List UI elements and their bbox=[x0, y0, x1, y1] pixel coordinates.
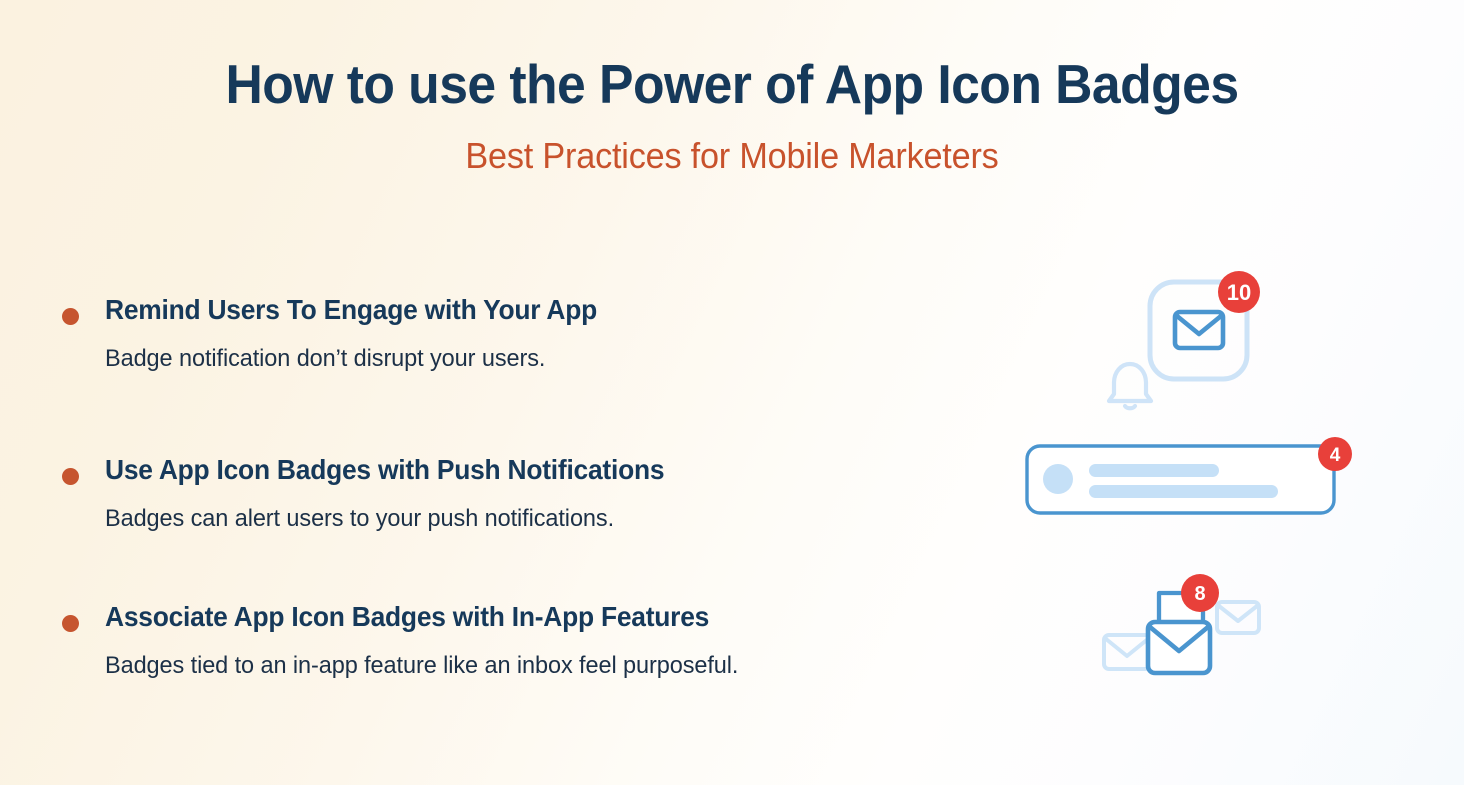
illustration-inbox-envelopes: 8 bbox=[1090, 571, 1290, 706]
page-title: How to use the Power of App Icon Badges bbox=[44, 55, 1420, 114]
badge-counter: 8 bbox=[1181, 574, 1219, 612]
bullet-dot-icon bbox=[62, 308, 79, 325]
notification-card bbox=[1027, 446, 1334, 513]
bullet-dot-icon bbox=[62, 615, 79, 632]
list-item-description: Badge notification don’t disrupt your us… bbox=[105, 344, 976, 373]
text-line bbox=[1089, 485, 1278, 498]
list-item-text: Remind Users To Engage with Your App Bad… bbox=[62, 294, 1012, 373]
badge-count-label: 8 bbox=[1194, 583, 1205, 605]
inbox-envelopes-svg: 8 bbox=[1090, 571, 1290, 701]
push-notification-svg: 4 bbox=[1010, 432, 1370, 562]
envelope-ghost-icon bbox=[1104, 635, 1150, 669]
app-icon-badge-svg: 10 bbox=[1088, 262, 1288, 422]
list-item: Associate App Icon Badges with In-App Fe… bbox=[0, 579, 1464, 729]
badge-count-label: 4 bbox=[1330, 445, 1341, 466]
list-item-heading: Remind Users To Engage with Your App bbox=[105, 294, 976, 326]
avatar bbox=[1043, 464, 1073, 494]
list-item: Remind Users To Engage with Your App Bad… bbox=[0, 272, 1464, 422]
text-line bbox=[1089, 464, 1219, 477]
list-item-description: Badges can alert users to your push noti… bbox=[105, 504, 976, 533]
bullet-list: Remind Users To Engage with Your App Bad… bbox=[0, 272, 1464, 742]
illustration-app-icon-with-badge: 10 bbox=[1088, 262, 1288, 427]
list-item-heading: Associate App Icon Badges with In-App Fe… bbox=[105, 601, 976, 633]
badge-counter: 4 bbox=[1318, 437, 1352, 471]
list-item: Use App Icon Badges with Push Notificati… bbox=[0, 432, 1464, 582]
envelope-ghost-icon bbox=[1217, 602, 1259, 633]
page-subtitle: Best Practices for Mobile Marketers bbox=[37, 135, 1428, 177]
list-item-heading: Use App Icon Badges with Push Notificati… bbox=[105, 454, 976, 486]
list-item-text: Use App Icon Badges with Push Notificati… bbox=[62, 454, 1012, 533]
infographic-canvas: How to use the Power of App Icon Badges … bbox=[0, 0, 1464, 785]
bell-icon bbox=[1109, 364, 1151, 408]
list-item-text: Associate App Icon Badges with In-App Fe… bbox=[62, 601, 1012, 680]
envelope-icon bbox=[1175, 312, 1223, 348]
envelope-icon bbox=[1148, 622, 1210, 673]
badge-counter: 10 bbox=[1218, 271, 1260, 313]
illustration-push-notification-card: 4 bbox=[1010, 432, 1370, 567]
bullet-dot-icon bbox=[62, 468, 79, 485]
header: How to use the Power of App Icon Badges … bbox=[0, 55, 1464, 177]
badge-count-label: 10 bbox=[1227, 280, 1251, 305]
list-item-description: Badges tied to an in-app feature like an… bbox=[105, 651, 976, 680]
